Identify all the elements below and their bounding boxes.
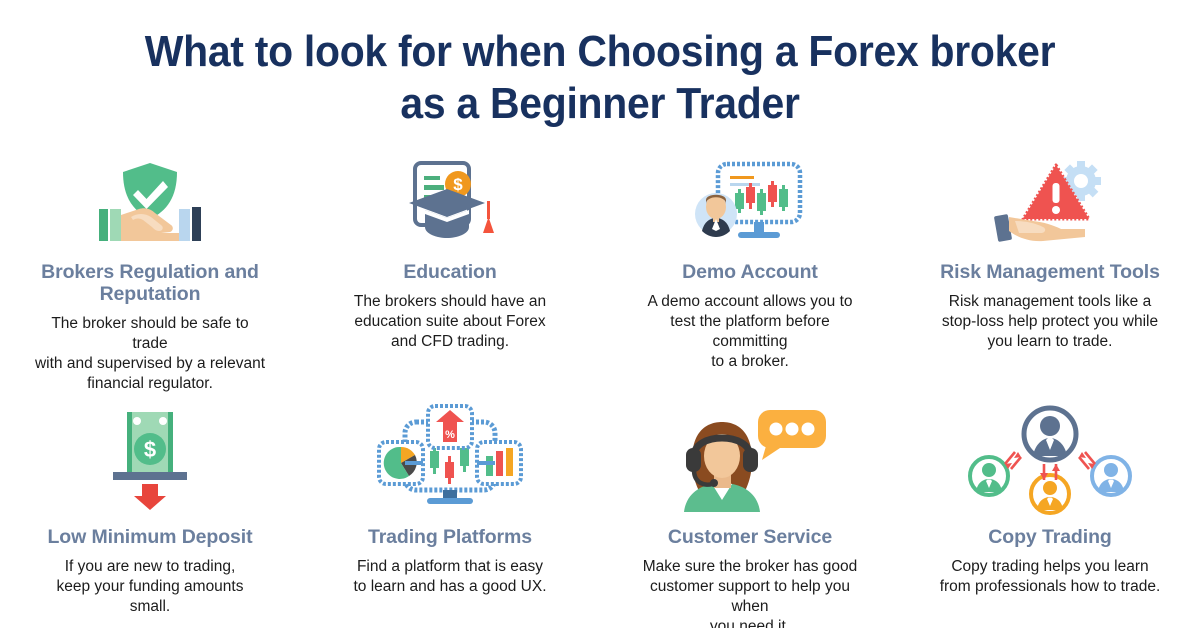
- feature-body: The brokers should have an education sui…: [354, 292, 546, 352]
- shield-handshake-icon: [95, 155, 205, 247]
- feature-body: A demo account allows you to test the pl…: [634, 292, 866, 372]
- monitor-candlestick-avatar-icon: [694, 155, 806, 247]
- support-agent-headset-icon: [670, 404, 830, 514]
- feature-card-brokers-regulation: Brokers Regulation and Reputation The br…: [0, 155, 300, 394]
- feature-body: Risk management tools like a stop-loss h…: [942, 292, 1158, 352]
- feature-title: Brokers Regulation and Reputation: [25, 261, 275, 305]
- feature-body: Make sure the broker has good customer s…: [634, 557, 866, 628]
- feature-card-demo-account: Demo Account A demo account allows you t…: [600, 155, 900, 394]
- graduation-cap-document-icon: $: [395, 155, 505, 247]
- feature-title: Low Minimum Deposit: [47, 526, 252, 548]
- feature-body: Find a platform that is easy to learn an…: [353, 557, 546, 597]
- feature-row-1: Brokers Regulation and Reputation The br…: [0, 155, 1200, 394]
- feature-card-education: $ Education The brokers should have an e…: [300, 155, 600, 394]
- feature-body: The broker should be safe to trade with …: [34, 314, 266, 394]
- feature-card-low-minimum-deposit: $ Low Minimum Deposit If you are new to …: [0, 404, 300, 628]
- feature-title: Copy Trading: [988, 526, 1111, 548]
- feature-card-trading-platforms: % Trading Platforms Find a platform that…: [300, 404, 600, 628]
- svg-text:%: %: [445, 429, 455, 441]
- page-title-line-1: What to look for when Choosing a Forex b…: [42, 26, 1158, 78]
- feature-title: Demo Account: [682, 261, 818, 283]
- copy-trading-network-icon: [965, 404, 1135, 514]
- svg-text:$: $: [144, 437, 156, 462]
- feature-grid: Brokers Regulation and Reputation The br…: [0, 155, 1200, 628]
- feature-card-risk-management: Risk Management Tools Risk management to…: [900, 155, 1200, 394]
- banknote-deposit-arrow-icon: $: [95, 404, 205, 514]
- page-title-line-2: as a Beginner Trader: [42, 78, 1158, 130]
- feature-row-2: $ Low Minimum Deposit If you are new to …: [0, 404, 1200, 628]
- feature-title: Trading Platforms: [368, 526, 532, 548]
- infographic-canvas: What to look for when Choosing a Forex b…: [0, 0, 1200, 628]
- feature-body: Copy trading helps you learn from profes…: [940, 557, 1161, 597]
- feature-body: If you are new to trading, keep your fun…: [57, 557, 244, 617]
- svg-text:$: $: [453, 175, 463, 194]
- feature-title: Customer Service: [668, 526, 832, 548]
- feature-title: Education: [403, 261, 496, 283]
- feature-card-customer-service: Customer Service Make sure the broker ha…: [600, 404, 900, 628]
- page-title: What to look for when Choosing a Forex b…: [0, 26, 1200, 130]
- monitor-charts-icon: %: [375, 404, 525, 514]
- hand-warning-gear-icon: [993, 155, 1108, 247]
- feature-card-copy-trading: Copy Trading Copy trading helps you lear…: [900, 404, 1200, 628]
- feature-title: Risk Management Tools: [940, 261, 1160, 283]
